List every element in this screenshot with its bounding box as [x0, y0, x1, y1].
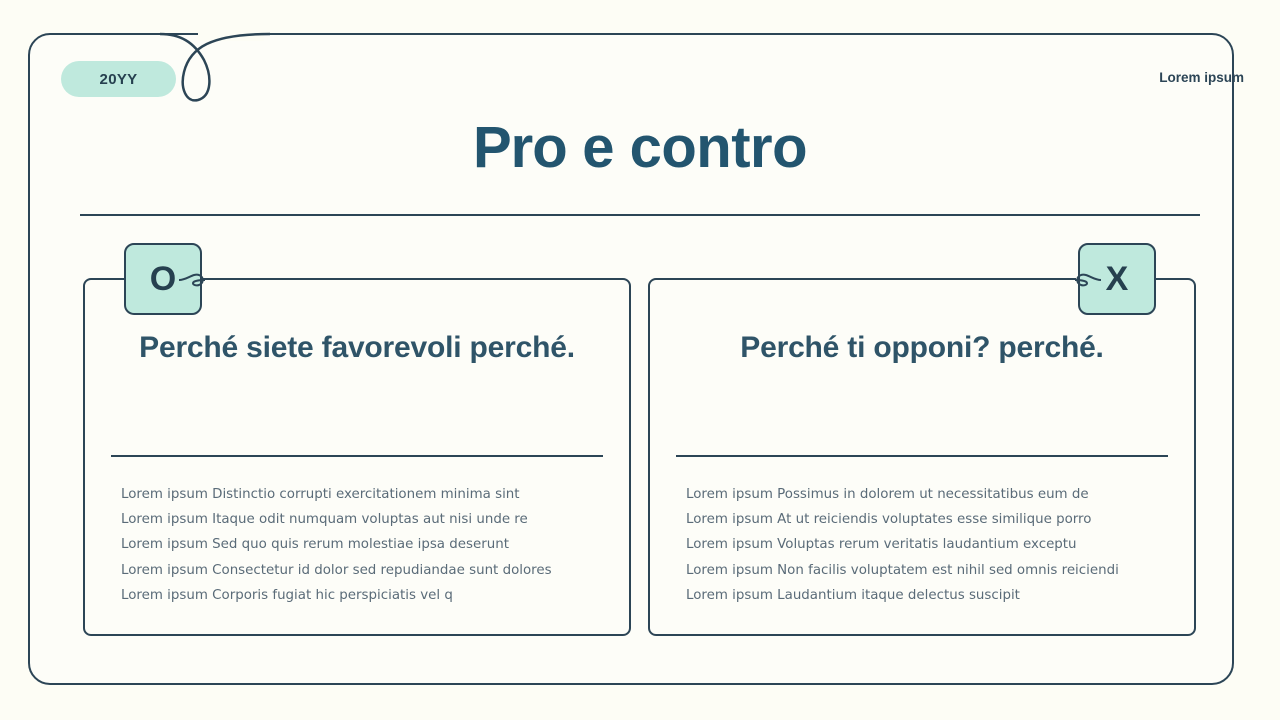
pros-list: Lorem ipsum Distinctio corrupti exercita… [121, 482, 607, 608]
corner-label: Lorem ipsum [1159, 70, 1244, 85]
list-item: Lorem ipsum Itaque odit numquam voluptas… [121, 507, 607, 532]
page-title-strong: Pro [473, 115, 567, 180]
list-item: Lorem ipsum Distinctio corrupti exercita… [121, 482, 607, 507]
page-title: Pro e contro [0, 118, 1280, 179]
comparison-columns: Perché siete favorevoli perché. Lorem ip… [83, 278, 1196, 636]
cons-card-divider [676, 455, 1168, 457]
list-item: Lorem ipsum Laudantium itaque delectus s… [686, 583, 1172, 608]
year-badge-label: 20YY [100, 71, 138, 88]
knot-icon [1075, 269, 1101, 291]
cons-card: Perché ti opponi? perché. Lorem ipsum Po… [648, 278, 1196, 636]
year-badge: 20YY [61, 61, 176, 97]
list-item: Lorem ipsum Consectetur id dolor sed rep… [121, 558, 607, 583]
pros-badge: O [124, 243, 202, 315]
list-item: Lorem ipsum Possimus in dolorem ut neces… [686, 482, 1172, 507]
knot-icon [179, 269, 205, 291]
page-title-regular: e contro [567, 115, 807, 180]
frame-border-gap [198, 29, 264, 41]
pros-badge-label: O [150, 260, 176, 299]
list-item: Lorem ipsum Corporis fugiat hic perspici… [121, 583, 607, 608]
list-item: Lorem ipsum Voluptas rerum veritatis lau… [686, 532, 1172, 557]
pros-card-heading: Perché siete favorevoli perché. [119, 326, 595, 370]
cons-badge-label: X [1106, 260, 1129, 299]
pros-card: Perché siete favorevoli perché. Lorem ip… [83, 278, 631, 636]
pros-card-divider [111, 455, 603, 457]
title-divider [80, 214, 1200, 216]
cons-badge: X [1078, 243, 1156, 315]
list-item: Lorem ipsum At ut reiciendis voluptates … [686, 507, 1172, 532]
list-item: Lorem ipsum Sed quo quis rerum molestiae… [121, 532, 607, 557]
cons-card-heading: Perché ti opponi? perché. [684, 326, 1160, 370]
cons-list: Lorem ipsum Possimus in dolorem ut neces… [686, 482, 1172, 608]
list-item: Lorem ipsum Non facilis voluptatem est n… [686, 558, 1172, 583]
